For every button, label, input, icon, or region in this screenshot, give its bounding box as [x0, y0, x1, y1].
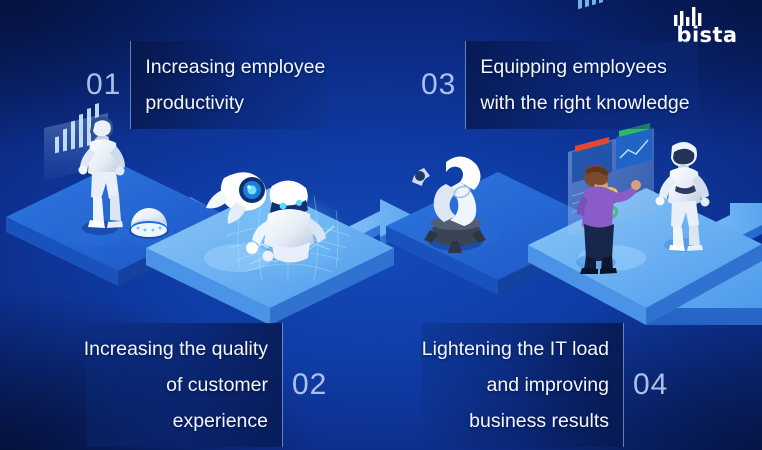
step-block-03[interactable]: 03 Equipping employees with the right kn…: [421, 41, 698, 129]
step-line: productivity: [145, 85, 313, 121]
step-line: experience: [173, 403, 268, 439]
brand-logo[interactable]: bista: [668, 6, 746, 45]
step-number-03: 03: [421, 41, 465, 129]
step-line: Increasing employee: [145, 49, 313, 85]
step-line: business results: [469, 403, 609, 439]
step-block-04[interactable]: Lightening the IT load and improving bus…: [421, 323, 668, 447]
step-number-04: 04: [624, 323, 668, 447]
step-line: and improving: [487, 367, 609, 403]
step-line: of customer: [166, 367, 268, 403]
step-number-02: 02: [283, 323, 327, 447]
step-text-panel-04: Lightening the IT load and improving bus…: [421, 323, 623, 447]
text-overlay: bista 01 Increasing employee productivit…: [0, 0, 762, 450]
step-text-panel-01: Increasing employee productivity: [131, 41, 327, 129]
step-block-01[interactable]: 01 Increasing employee productivity: [86, 41, 327, 129]
step-line: Lightening the IT load: [422, 331, 609, 367]
step-number-01: 01: [86, 41, 130, 129]
step-block-02[interactable]: Increasing the quality of customer exper…: [86, 323, 327, 447]
step-text-panel-03: Equipping employees with the right knowl…: [466, 41, 698, 129]
infographic-canvas: bista 01 Increasing employee productivit…: [0, 0, 762, 450]
step-line: with the right knowledge: [480, 85, 684, 121]
step-text-panel-02: Increasing the quality of customer exper…: [86, 323, 282, 447]
step-line: Equipping employees: [480, 49, 684, 85]
step-line: Increasing the quality: [84, 331, 268, 367]
